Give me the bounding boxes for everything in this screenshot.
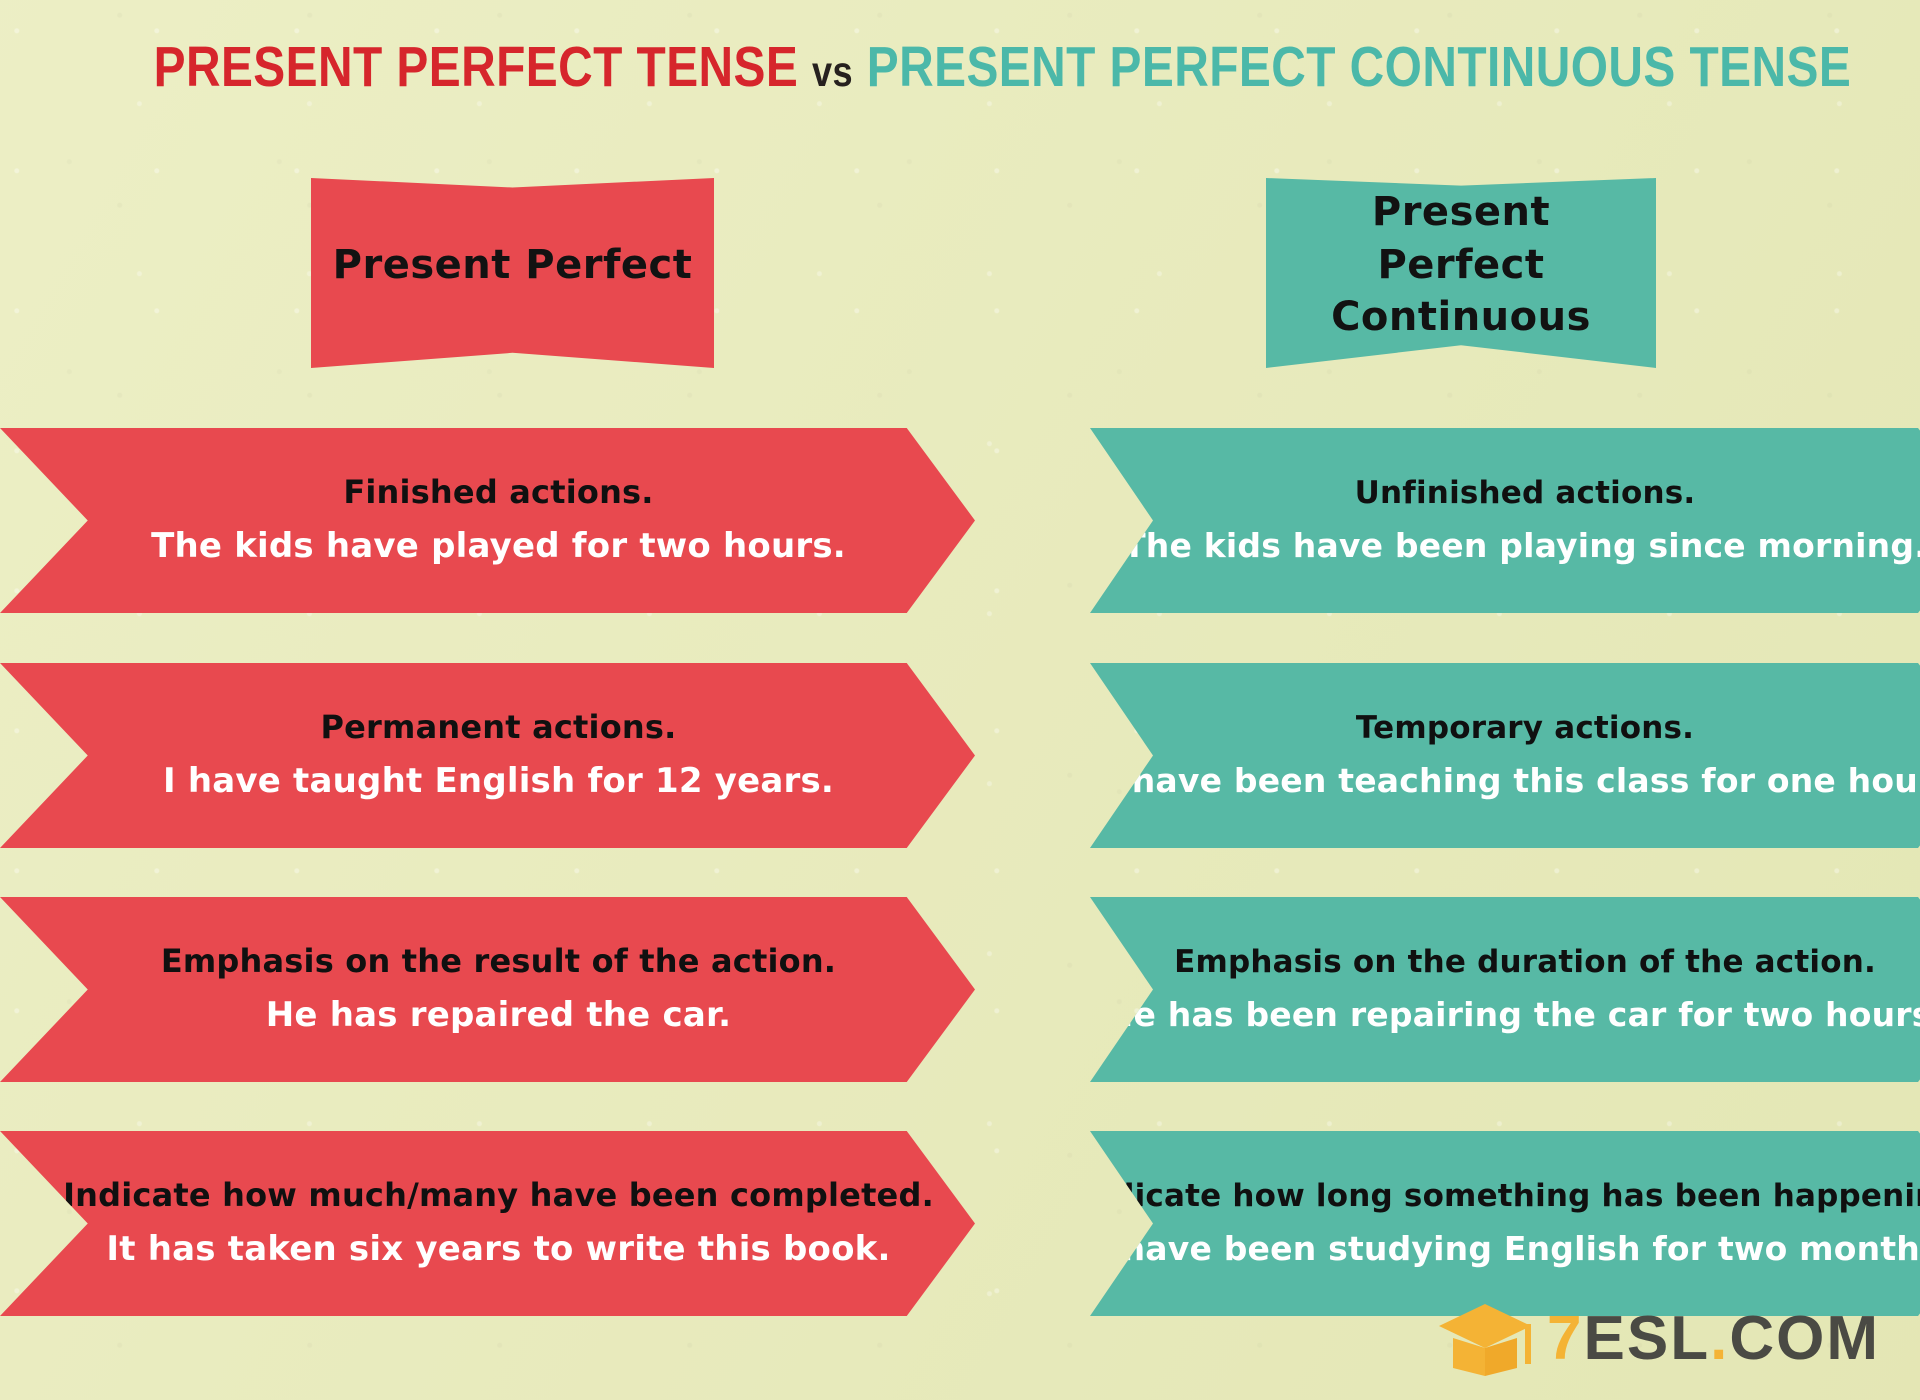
table-row: Temporary actions. I have been teaching … (1090, 663, 1920, 848)
logo-dot: . (1710, 1308, 1729, 1370)
title-left-part: PRESENT PERFECT TENSE (154, 35, 799, 99)
table-row: Emphasis on the duration of the action. … (1090, 897, 1920, 1082)
logo-com: COM (1729, 1308, 1880, 1370)
table-row: Indicate how long something has been hap… (1090, 1131, 1920, 1316)
table-row: Permanent actions. I have taught English… (0, 663, 975, 848)
row-example-text: The kids have been playing since morning… (1123, 528, 1920, 564)
title-right-part: PRESENT PERFECT CONTINUOUS TENSE (867, 35, 1851, 99)
row-point-text: Indicate how much/many have been complet… (63, 1178, 934, 1213)
table-row: Unfinished actions. The kids have been p… (1090, 428, 1920, 613)
logo-esl: ESL (1584, 1308, 1711, 1370)
row-point-text: Unfinished actions. (1355, 476, 1696, 510)
graduation-cap-icon (1437, 1302, 1533, 1376)
row-point-text: Indicate how long something has been hap… (1078, 1179, 1920, 1213)
title-vs: vs (812, 48, 853, 96)
row-example-text: I have taught English for 12 years. (163, 763, 834, 800)
row-point-text: Finished actions. (343, 475, 653, 510)
logo-seven: 7 (1547, 1308, 1583, 1370)
column-header-right-label: Present Perfect Continuous (1282, 186, 1640, 344)
table-row: Emphasis on the result of the action. He… (0, 897, 975, 1082)
table-row: Finished actions. The kids have played f… (0, 428, 975, 613)
column-header-present-perfect: Present Perfect (311, 178, 714, 368)
row-point-text: Permanent actions. (321, 710, 677, 745)
row-point-text: Emphasis on the duration of the action. (1174, 945, 1876, 979)
row-example-text: I have been teaching this class for one … (1108, 763, 1920, 799)
row-example-text: It has taken six years to write this boo… (106, 1231, 890, 1268)
infographic-sheet: PRESENT PERFECT TENSE vs PRESENT PERFECT… (0, 0, 1920, 1400)
logo-wordmark: 7ESL.COM (1547, 1308, 1880, 1370)
column-header-present-perfect-continuous: Present Perfect Continuous (1266, 178, 1656, 368)
column-header-left-label: Present Perfect (333, 239, 693, 292)
row-example-text: He has repaired the car. (266, 997, 731, 1034)
row-example-text: The kids have played for two hours. (151, 528, 846, 565)
site-logo[interactable]: 7ESL.COM (1437, 1302, 1880, 1376)
row-example-text: I have been studying English for two mon… (1097, 1231, 1920, 1267)
page-title: PRESENT PERFECT TENSE vs PRESENT PERFECT… (154, 34, 1767, 100)
row-point-text: Temporary actions. (1356, 711, 1694, 745)
table-row: Indicate how much/many have been complet… (0, 1131, 975, 1316)
row-example-text: He has been repairing the car for two ho… (1106, 997, 1920, 1033)
row-point-text: Emphasis on the result of the action. (161, 944, 836, 979)
